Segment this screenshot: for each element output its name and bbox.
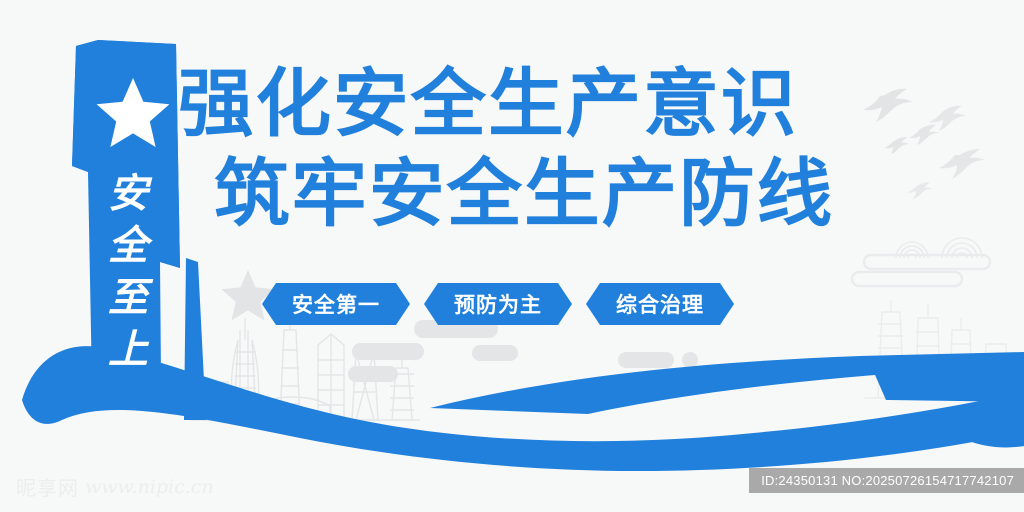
watermark-logo-text: 昵享网: [16, 472, 79, 501]
watermark-url-text: www.nipic.cn: [85, 476, 214, 498]
slogan-badge-2[interactable]: 预防为主: [424, 283, 572, 325]
headline-line-2: 筑牢安全生产防线: [214, 152, 912, 236]
headline-line-1: 强化安全生产意识: [178, 62, 912, 146]
slogan-badge-3[interactable]: 综合治理: [586, 283, 734, 325]
slogan-badge-1[interactable]: 安全第一: [262, 283, 410, 325]
headline-block: 强化安全生产意识 筑牢安全生产防线: [178, 62, 898, 236]
site-watermark: 昵享网 www.nipic.cn: [16, 472, 214, 501]
banner-char-3: 至: [108, 272, 148, 324]
poster-canvas: 安 全 至 上 强化安全生产意识 筑牢安全生产防线 安全第一 预防为主 综合治理…: [0, 0, 1024, 512]
slogan-badge-2-label: 预防为主: [454, 289, 542, 319]
slogan-badge-group: 安全第一 预防为主 综合治理: [262, 283, 734, 325]
banner-vertical-text: 安 全 至 上: [97, 168, 159, 376]
image-id-badge: ID:24350131 NO:20250726154717742107: [749, 468, 1024, 493]
banner-char-1: 安: [108, 168, 148, 220]
slogan-badge-1-label: 安全第一: [292, 289, 380, 319]
slogan-badge-3-label: 综合治理: [616, 289, 704, 319]
banner-char-4: 上: [108, 324, 148, 376]
banner-char-2: 全: [108, 220, 148, 272]
